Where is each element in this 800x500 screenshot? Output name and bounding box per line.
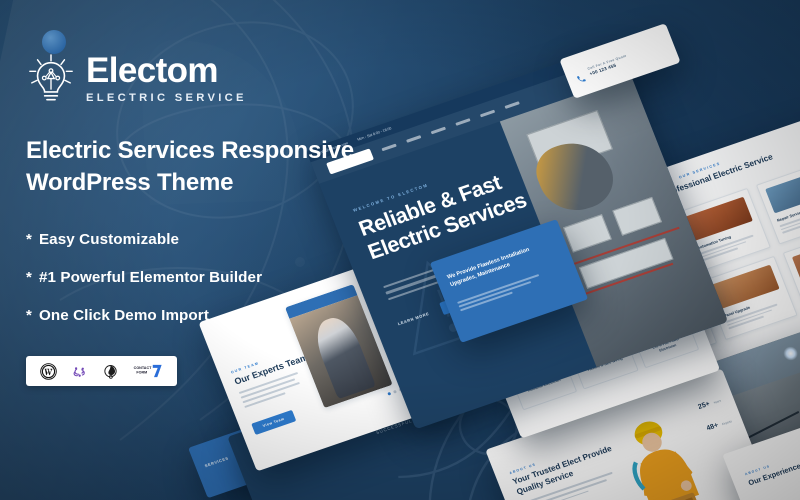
stat-item: 2280+ SATISFIED CLIENTS: [280, 491, 343, 500]
svg-text:CONTACT: CONTACT: [134, 366, 152, 370]
stat-number: 2280+: [280, 491, 340, 500]
elementor-drop-icon: [102, 363, 119, 380]
trusted-stats: 25+ Years 48+ Experts: [697, 396, 733, 432]
decorative-orb: [42, 30, 66, 54]
service-thumbnail: [765, 169, 800, 213]
trusted-stat-item: 48+ Experts: [706, 417, 733, 432]
hero-nav-item[interactable]: [505, 101, 520, 109]
page-title: Electric Services Responsive WordPress T…: [26, 135, 366, 198]
feature-bullet: * #1 Powerful Elementor Builder: [26, 269, 366, 286]
promo-panel: Electom ELECTRIC SERVICE Electric Servic…: [26, 52, 366, 386]
redux-icon: [71, 363, 88, 380]
trusted-stat-label: Experts: [721, 419, 732, 426]
brand-logo: Electom ELECTRIC SERVICE: [26, 52, 366, 106]
trusted-stat-number: 25+: [697, 401, 711, 411]
hero-nav-item[interactable]: [406, 135, 421, 143]
feature-bullet: * One Click Demo Import: [26, 307, 366, 324]
wordpress-icon: [40, 363, 57, 380]
call-widget-text: Call For A Free Quote +00 123 456: [587, 53, 630, 76]
plugin-badge-strip: CONTACT FORM: [26, 356, 177, 386]
hero-nav-item[interactable]: [381, 144, 396, 152]
asterisk-icon: *: [26, 307, 32, 324]
svg-text:FORM: FORM: [136, 371, 147, 375]
feature-bullet-label: #1 Powerful Elementor Builder: [39, 269, 262, 286]
lightbulb-idea-icon: [26, 52, 76, 106]
asterisk-icon: *: [26, 269, 32, 286]
feature-bullet-label: One Click Demo Import: [39, 307, 209, 324]
service-thumbnail: [792, 237, 800, 281]
feature-bullet-list: * Easy Customizable * #1 Powerful Elemen…: [26, 231, 366, 324]
experience-title: Our Experience: [747, 461, 800, 487]
brand-logo-text: Electom ELECTRIC SERVICE: [86, 53, 247, 104]
brand-name: Electom: [86, 53, 247, 88]
side-tab-label: SERVICES: [204, 455, 229, 468]
hero-nav-item[interactable]: [455, 118, 470, 126]
trusted-stat-item: 25+ Years: [697, 396, 724, 411]
hero-nav-item[interactable]: [431, 127, 446, 135]
asterisk-icon: *: [26, 231, 32, 248]
feature-bullet: * Easy Customizable: [26, 231, 366, 248]
trusted-stat-label: Years: [713, 398, 722, 404]
phone-call-icon: [574, 69, 586, 80]
team-view-button[interactable]: View Team: [251, 410, 296, 435]
brand-tagline: ELECTRIC SERVICE: [86, 93, 247, 104]
feature-bullet-label: Easy Customizable: [39, 231, 179, 248]
trusted-stat-number: 48+: [706, 422, 720, 432]
contact-form-7-icon: CONTACT FORM: [133, 363, 163, 379]
hero-nav-item[interactable]: [480, 110, 495, 118]
